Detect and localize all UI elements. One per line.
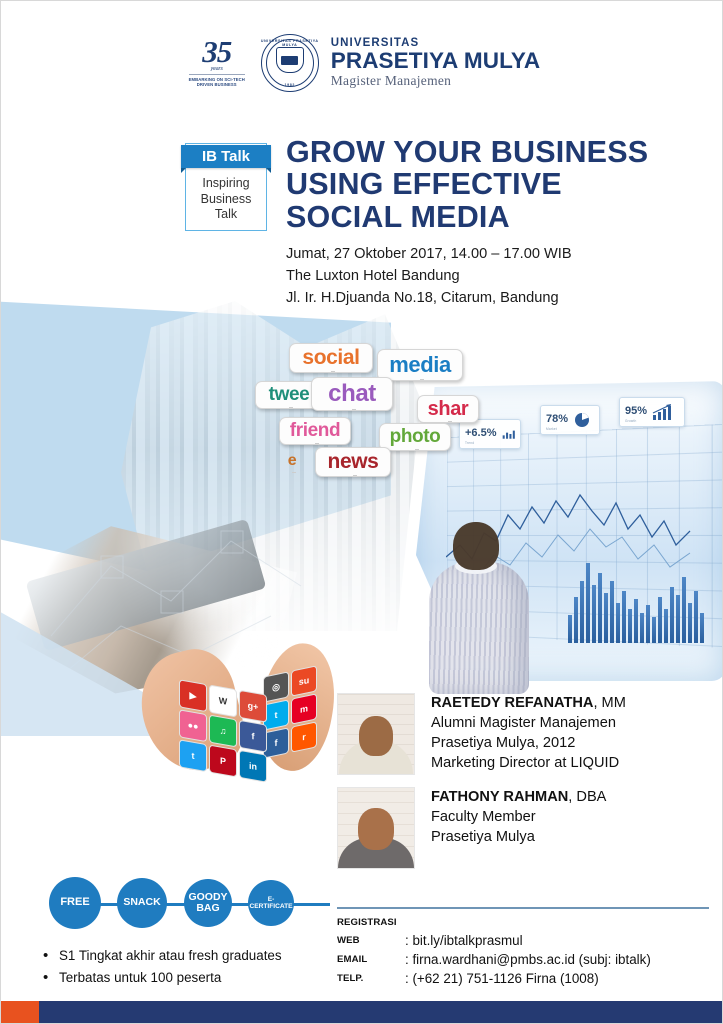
university-wordmark: UNIVERSITAS PRASETIYA MULYA Magister Man… [331, 37, 540, 89]
speakers-section: RAETEDY REFANATHA, MM Alumni Magister Ma… [337, 693, 707, 881]
logo-divider [189, 74, 245, 75]
registration-value[interactable]: : (+62 21) 751-1126 Firna (1008) [405, 969, 709, 988]
pinterest-icon: P [209, 745, 237, 778]
figure-collar [455, 558, 497, 574]
stat-card: 78% Market [540, 405, 600, 435]
light-blue-diagonal-shape [0, 566, 231, 736]
speaker-head [358, 808, 394, 850]
registration-section: REGISTRASI WEB : bit.ly/ibtalkprasmul EM… [337, 907, 709, 988]
footer-accent-navy [39, 1001, 723, 1023]
perks-badges: FREE SNACK GOODYBAG E-CERTIFICATE [49, 877, 324, 931]
growth-chart-icon [652, 404, 674, 420]
perk-badge-goody-bag: GOODYBAG [184, 879, 232, 927]
ib-talk-ribbon: IB Talk [181, 145, 271, 168]
flickr-icon: ●● [179, 709, 207, 742]
speaker-info: RAETEDY REFANATHA, MM Alumni Magister Ma… [431, 693, 626, 775]
spotify-icon: ♫ [209, 715, 237, 748]
stat-card-text: +6.5% Trend [465, 423, 497, 445]
word-bubble-news: news [315, 447, 391, 477]
ib-talk-subtitle: Inspiring Business Talk [201, 176, 252, 223]
registration-value[interactable]: : firna.wardhani@pmbs.ac.id (subj: ibtal… [405, 950, 709, 969]
meetup-icon: m [291, 693, 317, 725]
cube-face-right: ◎ su t m f r [263, 665, 317, 758]
blue-wedge-shape [0, 301, 391, 571]
event-details: Jumat, 27 Oktober 2017, 14.00 – 17.00 WI… [286, 243, 706, 310]
speaker-info: FATHONY RAHMAN, DBA Faculty Member Prase… [431, 787, 606, 869]
footer-accent-orange [1, 1001, 39, 1023]
facebook-icon: f [263, 727, 289, 759]
event-venue: The Luxton Hotel Bandung [286, 265, 706, 287]
university-crest-icon: UNIVERSITAS PRASETIYA MULYA 1982 [261, 34, 319, 92]
cityscape-overlay-image [121, 301, 421, 631]
businessman-figure-image [419, 516, 539, 696]
eligibility-bullets: S1 Tingkat akhir atau fresh graduates Te… [41, 945, 341, 988]
registration-divider [337, 907, 709, 909]
hand-fingers-shape [250, 638, 343, 777]
hand-thumb-shape [130, 641, 252, 781]
stat-card-text: 78% Market [546, 409, 568, 431]
speaker-head [359, 716, 393, 756]
youtube-icon: ▶ [179, 679, 207, 712]
speaker-photo-fathony [337, 787, 415, 869]
speaker-item: FATHONY RAHMAN, DBA Faculty Member Prase… [337, 787, 707, 869]
registration-key: TELP. [337, 969, 405, 988]
pie-chart-icon [573, 412, 591, 428]
social-media-cube-graphic: ▶ W g+ ●● ♫ f t P in ◎ su t m f r [173, 669, 303, 829]
facebook-icon: f [239, 720, 267, 753]
speaker-name: RAETEDY REFANATHA, MM [431, 694, 626, 714]
registration-row-email: EMAIL : firna.wardhani@pmbs.ac.id (subj:… [337, 950, 709, 969]
bar-chart-icon [502, 427, 516, 441]
registration-row-telp: TELP. : (+62 21) 751-1126 Firna (1008) [337, 969, 709, 988]
stat-card-text: 95% Growth [625, 401, 647, 423]
perk-badge-free: FREE [49, 877, 101, 929]
speaker-photo-raetedy [337, 693, 415, 775]
poster-header: 35 years EMBARKING ON SCI-TECH DRIVEN BU… [1, 27, 723, 99]
instagram-icon: ◎ [263, 671, 289, 703]
event-address: Jl. Ir. H.Djuanda No.18, Citarum, Bandun… [286, 287, 706, 309]
registration-row-web: WEB : bit.ly/ibtalkprasmul [337, 931, 709, 950]
line-chart-graphic [446, 471, 696, 591]
linkedin-icon: in [239, 750, 267, 783]
registration-key: EMAIL [337, 950, 405, 969]
event-poster: +6.5% Trend 78% Market 95% Growth [0, 0, 723, 1024]
anniversary-logo: 35 years EMBARKING ON SCI-TECH DRIVEN BU… [185, 38, 249, 87]
ib-talk-badge: Inspiring Business Talk IB Talk [181, 137, 271, 231]
stat-card: +6.5% Trend [459, 419, 521, 449]
cube-face-left: ▶ W g+ ●● ♫ f t P in [179, 679, 267, 783]
speaker-name: FATHONY RAHMAN, DBA [431, 788, 606, 808]
figure-head [453, 522, 499, 570]
registration-key: WEB [337, 931, 405, 950]
word-bubble-social: social [289, 343, 373, 373]
registration-heading: REGISTRASI [337, 917, 709, 928]
perk-badge-e-certificate: E-CERTIFICATE [248, 880, 294, 926]
crest-shield [276, 47, 304, 73]
figure-body [429, 562, 529, 694]
event-datetime: Jumat, 27 Oktober 2017, 14.00 – 17.00 WI… [286, 243, 706, 265]
crest-emblem [281, 56, 298, 65]
word-bubble-friend: friend [279, 417, 351, 445]
bar-chart-graphic [568, 557, 704, 643]
poster-title: GROW YOUR BUSINESS USING EFFECTIVE SOCIA… [286, 136, 706, 233]
twitter-icon: t [263, 699, 289, 731]
word-bubble-tweet: twee [255, 381, 323, 409]
bullet-item: Terbatas untuk 100 peserta [41, 967, 341, 989]
registration-value[interactable]: : bit.ly/ibtalkprasmul [405, 931, 709, 950]
chart-grid-lines [447, 424, 723, 648]
speaker-item: RAETEDY REFANATHA, MM Alumni Magister Ma… [337, 693, 707, 775]
perk-badge-snack: SNACK [117, 878, 167, 928]
tablet-device-shape [26, 519, 267, 652]
social-word-bubbles-graphic: social media twee chat shar friend photo… [249, 339, 481, 484]
wordpress-icon: W [209, 685, 237, 718]
word-bubble-media: media [377, 349, 463, 381]
twitter-icon: t [179, 739, 207, 772]
reddit-icon: r [291, 721, 317, 753]
bullet-item: S1 Tingkat akhir atau fresh graduates [41, 945, 341, 967]
footer-bar [1, 1001, 723, 1023]
hand-with-tablet-image [9, 501, 309, 711]
word-bubble-chat: chat [311, 377, 393, 411]
word-bubble-photo: photo [379, 423, 451, 451]
word-bubble-e: e [281, 449, 303, 473]
network-lines-graphic [41, 506, 321, 706]
stumbleupon-icon: su [291, 665, 317, 697]
google-plus-icon: g+ [239, 690, 267, 723]
stat-card: 95% Growth [619, 397, 685, 427]
